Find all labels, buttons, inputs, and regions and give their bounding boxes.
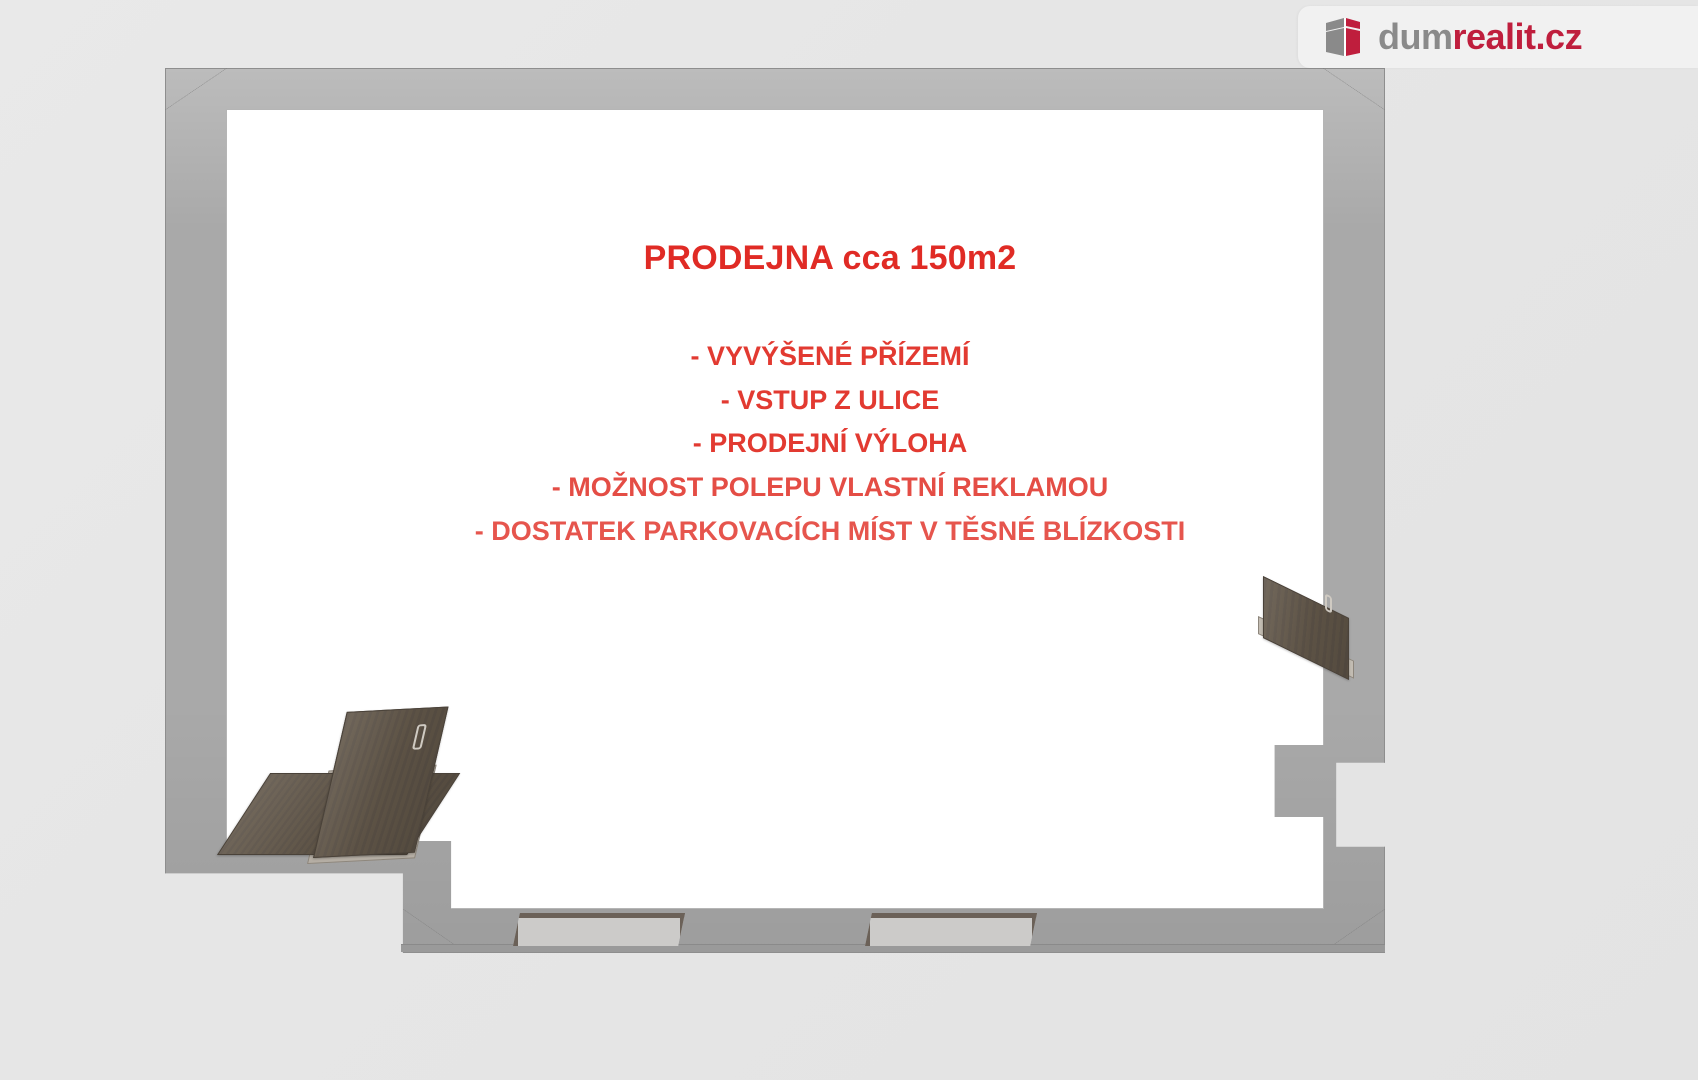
page-background: PRODEJNA cca 150m2 - VYVÝŠENÉ PŘÍZEMÍ - … xyxy=(0,0,1698,1080)
window-glass xyxy=(870,918,1032,946)
door-handle-icon xyxy=(1325,593,1332,613)
building-mark-icon xyxy=(1324,15,1364,59)
logo-text-cz: .cz xyxy=(1536,16,1583,58)
dumrealit-logo[interactable]: dumrealit.cz xyxy=(1298,6,1698,68)
window-bottom-left xyxy=(513,913,685,946)
window-glass xyxy=(518,918,680,946)
window-bottom-right xyxy=(865,913,1037,946)
logo-wordmark: dumrealit.cz xyxy=(1378,16,1582,58)
floor-plan xyxy=(165,68,1385,953)
logo-text-realit: realit xyxy=(1453,16,1536,58)
logo-text-dum: dum xyxy=(1378,16,1453,58)
door-handle-icon xyxy=(412,724,427,750)
